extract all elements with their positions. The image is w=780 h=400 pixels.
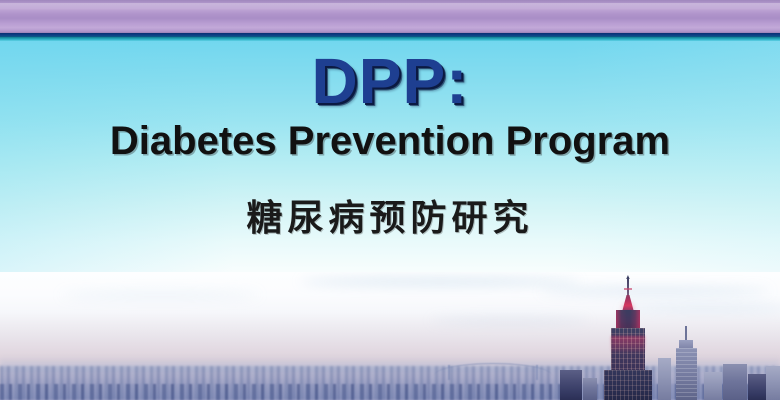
tower-windows [611,328,645,372]
antenna-mast [627,277,629,296]
upper-setback-floodlights [616,310,640,330]
teal-rule [0,37,780,41]
title-acronym: DPP: [0,49,780,113]
skyline-photo [0,272,780,400]
building-block [658,358,671,400]
purple-band-sheen [0,3,780,10]
building-block [723,364,747,400]
title-expanded: Diabetes Prevention Program [0,121,780,161]
mast-light-ring [624,288,632,290]
building-block [766,366,780,400]
building-block [704,372,722,400]
top-decorative-band [0,0,780,41]
secondary-tower [672,326,702,400]
tower-base-windows [604,370,652,400]
title-text-block: DPP: Diabetes Prevention Program 糖尿病预防研究 [0,41,780,273]
building-block [748,374,768,400]
building-block [560,370,582,400]
title-slide: DPP: Diabetes Prevention Program 糖尿病预防研究 [0,0,780,400]
title-chinese: 糖尿病预防研究 [0,201,780,237]
cloud-streak [300,278,580,285]
empire-state-building [598,272,658,400]
cloud-streak [60,292,260,298]
building-block [583,378,597,400]
tower-body-windows [676,348,697,400]
